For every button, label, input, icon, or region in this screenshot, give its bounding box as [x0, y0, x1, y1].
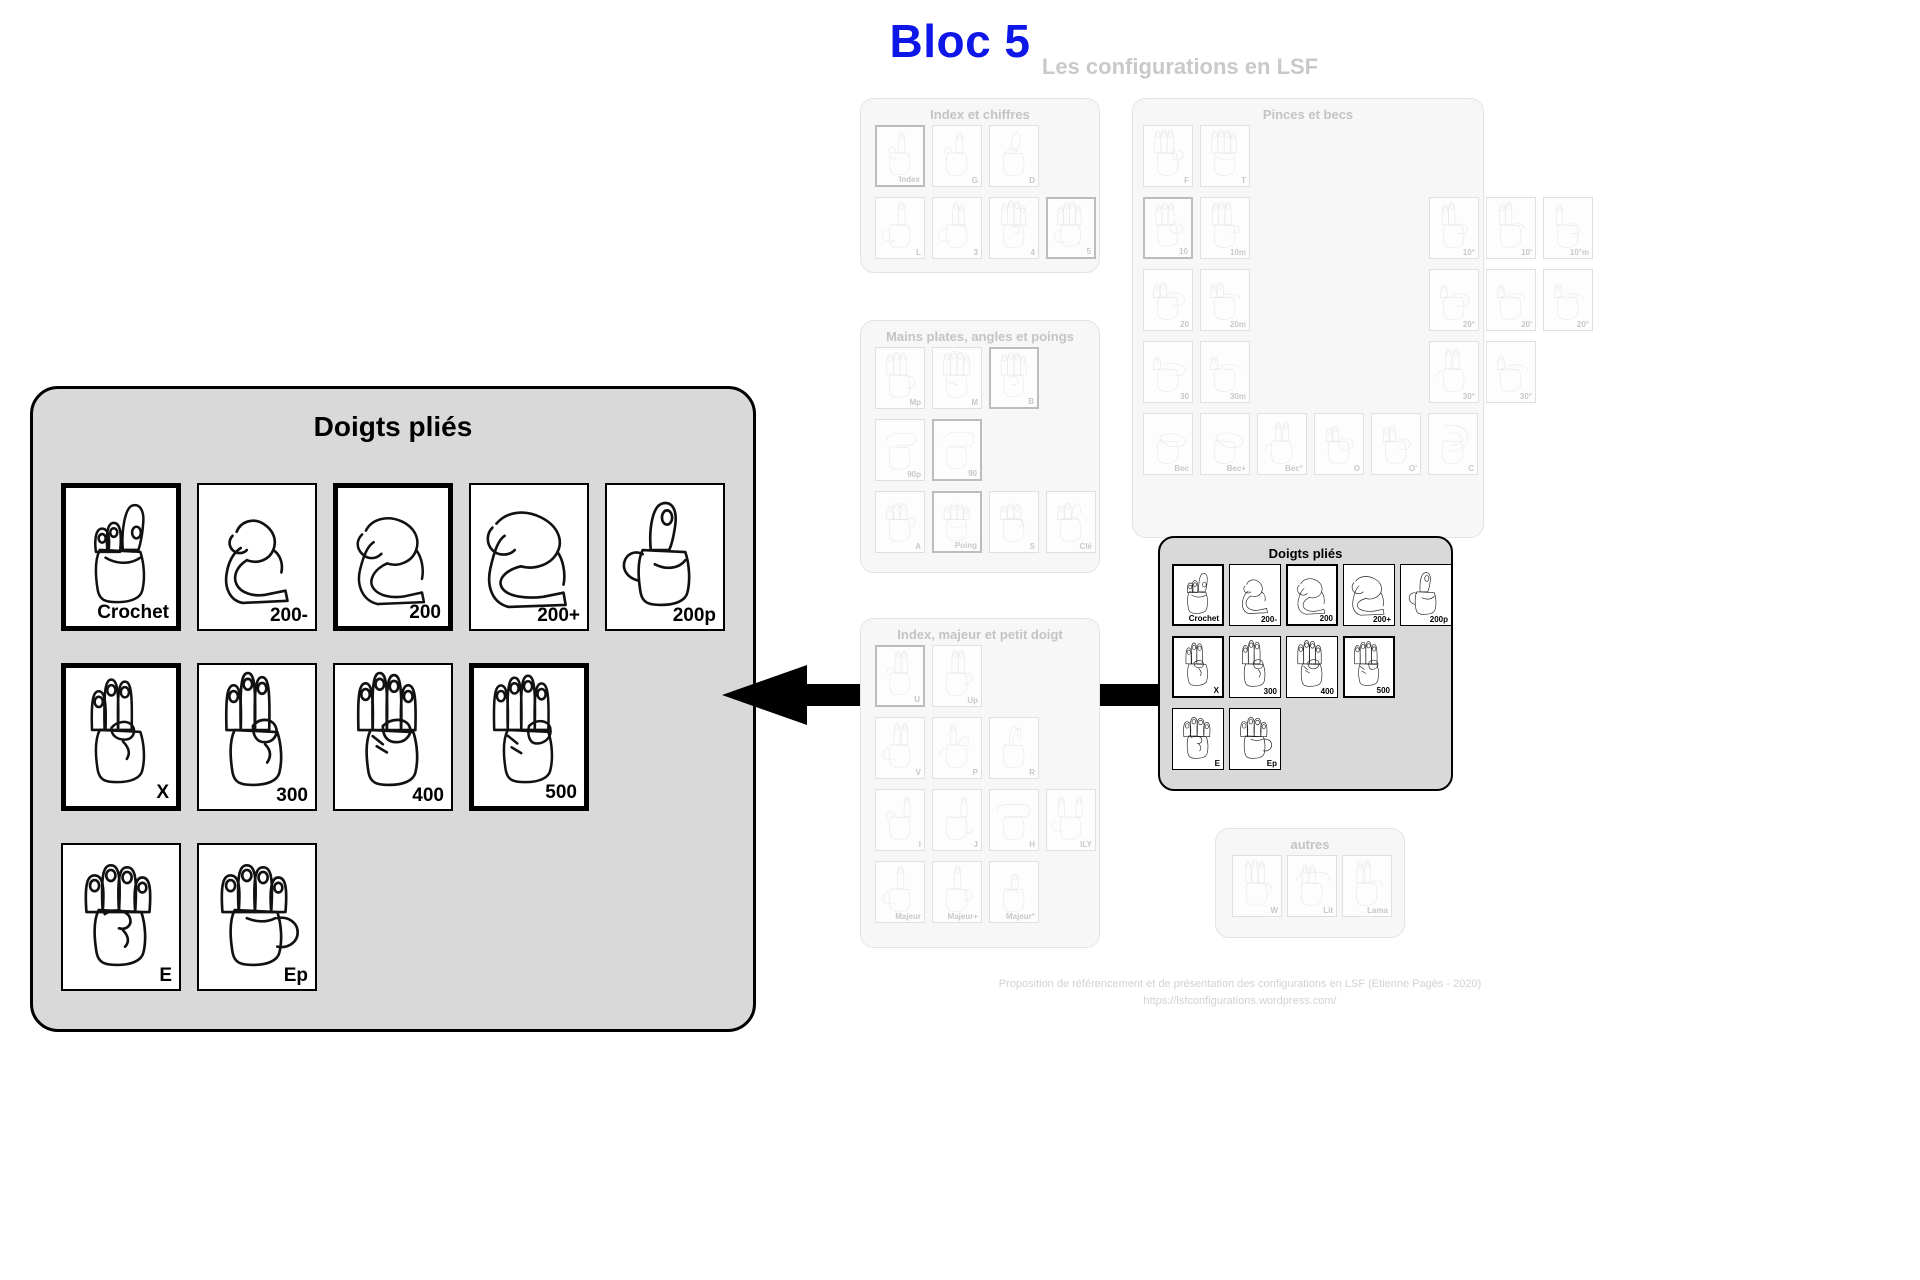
overview-card-label: 400 [1321, 688, 1334, 696]
hand-mp-icon [878, 349, 922, 399]
overview-card-20[interactable]: 20 [1143, 269, 1193, 331]
overview-card-label: V [916, 769, 921, 777]
hand-bec-icon [1146, 415, 1190, 465]
overview-card-label: Up [967, 697, 978, 705]
hand-pince-200plat-icon [611, 487, 719, 609]
overview-card-label: 20m [1230, 321, 1246, 329]
hand-pince-200-icon [342, 490, 444, 606]
card-label: 400 [412, 786, 444, 805]
overview-card-300[interactable]: 300 [1229, 636, 1281, 698]
hand-five-bent-icon [478, 670, 580, 786]
hand-lit-icon [1290, 857, 1334, 907]
hand-d10m-icon [1203, 199, 1247, 249]
hand-90-icon [936, 422, 978, 470]
overview-card-3[interactable]: 3 [932, 197, 982, 259]
hand-five-bent-icon [1347, 639, 1391, 687]
hand-three-bent-icon [1232, 638, 1278, 688]
overview-card-h[interactable]: H [989, 789, 1039, 851]
overview-card-label: 200- [1261, 616, 1277, 624]
overview-card-label: Index [899, 176, 920, 184]
overview-card-label: Poing [955, 542, 977, 550]
hand-d20a-icon [1489, 271, 1533, 321]
card-label: 500 [545, 783, 577, 802]
overview-card-label: J [974, 841, 978, 849]
hand-s-icon [992, 493, 1036, 543]
card-label: 200- [270, 606, 308, 625]
overview-card-label: 90 [968, 470, 977, 478]
overview-card-d[interactable]: D [989, 125, 1039, 187]
hand-crochet-icon [70, 490, 172, 606]
hand-m-icon [935, 349, 979, 399]
hand-e-hand-icon [67, 847, 175, 969]
overview-card-label: D [1029, 177, 1035, 185]
hand-d20d2-icon [1546, 271, 1590, 321]
hand-x-hand-icon [1176, 639, 1220, 687]
overview-card-label: H [1029, 841, 1035, 849]
overview-card-label: Bec° [1285, 465, 1303, 473]
overview-card-ep[interactable]: Ep [1229, 708, 1281, 770]
footer-line-2[interactable]: https://lsfconfigurations.wordpress.com/ [860, 993, 1620, 1010]
hand-d30m-icon [1203, 343, 1247, 393]
overview-card-t[interactable]: T [1200, 125, 1250, 187]
overview-card-200-[interactable]: 200- [1229, 564, 1281, 626]
overview-card-l[interactable]: L [875, 197, 925, 259]
hand-up-icon [935, 647, 979, 697]
card-label: E [159, 966, 172, 985]
overview-card-o[interactable]: O [1314, 413, 1364, 475]
hand-ep-hand-icon [1232, 710, 1278, 760]
overview-card-j[interactable]: J [932, 789, 982, 851]
overview-card-label: O' [1409, 465, 1417, 473]
overview-card-label: Majeur+ [948, 913, 978, 921]
config-card-200-[interactable]: 200- [197, 483, 317, 631]
hand-three-icon [935, 199, 979, 249]
overview-group-index-et-chiffres[interactable]: Index et chiffresIndexGDL345 [860, 98, 1100, 273]
overview-card-4[interactable]: 4 [989, 197, 1039, 259]
hand-t-icon [1203, 127, 1247, 177]
hand-g-icon [935, 127, 979, 177]
overview-card-x[interactable]: X [1172, 636, 1224, 698]
overview-card-label: P [973, 769, 978, 777]
overview-card-label: 200+ [1373, 616, 1391, 624]
overview-card-label: Crochet [1189, 615, 1219, 623]
overview-card-label: Bec [1174, 465, 1189, 473]
overview-card-label: W [1270, 907, 1278, 915]
overview-card-label: 20° [1463, 321, 1475, 329]
hand-w-icon [1235, 857, 1279, 907]
overview-card-label: ILY [1080, 841, 1092, 849]
config-card-200-[interactable]: 200+ [469, 483, 589, 631]
overview-card-label: 3 [974, 249, 978, 257]
hand-pince-200plat-icon [1403, 566, 1449, 616]
overview-card-label: T [1241, 177, 1246, 185]
hand-h-icon [992, 791, 1036, 841]
overview-card-10[interactable]: 10 [1143, 197, 1193, 259]
hand-d10dm-icon [1546, 199, 1590, 249]
overview-card-crochet[interactable]: Crochet [1172, 564, 1224, 626]
overview-card-f[interactable]: F [1143, 125, 1193, 187]
hand-d30d-icon [1432, 343, 1476, 393]
hand-becd-icon [1260, 415, 1304, 465]
hand-pince-200p-icon [475, 487, 583, 609]
overview-card-lama[interactable]: Lama [1342, 855, 1392, 917]
overview-card-index[interactable]: Index [875, 125, 925, 187]
hand-d10-icon [1147, 200, 1189, 248]
hand-majeurd-icon [992, 863, 1036, 913]
hand-pince-200m-icon [203, 487, 311, 609]
hand-e-hand-icon [1175, 710, 1221, 760]
hand-d10a-icon [1489, 199, 1533, 249]
hand-c-icon [1431, 415, 1475, 465]
overview-card-label: 4 [1031, 249, 1035, 257]
overview-card-up[interactable]: Up [932, 645, 982, 707]
overview-card-label: 90p [907, 471, 921, 479]
overview-card-label: 30° [1520, 393, 1532, 401]
config-card-200[interactable]: 200 [333, 483, 453, 631]
hand-d20-icon [1146, 271, 1190, 321]
hand-d20d-icon [1432, 271, 1476, 321]
overview-card-label: Ep [1267, 760, 1277, 768]
overview-card-label: 5 [1087, 248, 1091, 256]
overview-card-200[interactable]: 200 [1286, 564, 1338, 626]
hand-i-icon [878, 791, 922, 841]
panel-title: Doigts pliés [33, 411, 753, 443]
hand-f-icon [1146, 127, 1190, 177]
overview-card-label: A [915, 543, 921, 551]
overview-group-mains-plates-angles-et-poings[interactable]: Mains plates, angles et poingsMpMB90p90A… [860, 320, 1100, 573]
hand-d20m-icon [1203, 271, 1247, 321]
overview-card-bec-[interactable]: Bec+ [1200, 413, 1250, 475]
overview-card-c[interactable]: C [1428, 413, 1478, 475]
hand-oa-icon [1374, 415, 1418, 465]
card-label: 200 [409, 603, 441, 622]
overview-card-200p[interactable]: 200p [1400, 564, 1452, 626]
hand-four-icon [992, 199, 1036, 249]
hand-l-icon [878, 199, 922, 249]
overview-card-s[interactable]: S [989, 491, 1039, 553]
overview-card-label: G [972, 177, 978, 185]
overview-card-30-[interactable]: 30° [1429, 341, 1479, 403]
overview-card-label: 10° [1463, 249, 1475, 257]
overview-card-label: E [1215, 760, 1220, 768]
overview-card-label: Bec+ [1227, 465, 1246, 473]
overview-card-label: 10°m [1570, 249, 1589, 257]
overview-card-label: Majeur [895, 913, 921, 921]
footer-credits: Proposition de référencement et de prése… [860, 976, 1620, 1009]
overview-card-majeur[interactable]: Majeur [875, 861, 925, 923]
hand-d30-icon [1146, 343, 1190, 393]
hand-o-icon [1317, 415, 1361, 465]
overview-card-20-[interactable]: 20' [1486, 269, 1536, 331]
overview-card-r[interactable]: R [989, 717, 1039, 779]
hand-d-icon [992, 127, 1036, 177]
overview-group-index-majeur-et-petit-doigt[interactable]: Index, majeur et petit doigtUUpVPRIJHILY… [860, 618, 1100, 948]
hand-b-icon [993, 350, 1035, 398]
overview-card-b[interactable]: B [989, 347, 1039, 409]
overview-card-w[interactable]: W [1232, 855, 1282, 917]
overview-card-label: B [1028, 398, 1034, 406]
overview-card-label: F [1184, 177, 1189, 185]
overview-card-bec[interactable]: Bec [1143, 413, 1193, 475]
overview-card-label: Clé [1080, 543, 1092, 551]
overview-card-10m[interactable]: 10m [1200, 197, 1250, 259]
overview-card-400[interactable]: 400 [1286, 636, 1338, 698]
config-card-x[interactable]: X [61, 663, 181, 811]
overview-card-o-[interactable]: O' [1371, 413, 1421, 475]
overview-title: Les configurations en LSF [860, 54, 1500, 80]
hand-v-icon [878, 719, 922, 769]
overview-card-p[interactable]: P [932, 717, 982, 779]
overview-card-label: 10 [1179, 248, 1188, 256]
overview-card-cl-[interactable]: Clé [1046, 491, 1096, 553]
overview-card-label: 500 [1377, 687, 1390, 695]
overview-group-title: Pinces et becs [1133, 107, 1483, 122]
overview-card-label: C [1468, 465, 1474, 473]
overview-group-title: Index, majeur et petit doigt [861, 627, 1099, 642]
hand-90p-icon [878, 421, 922, 471]
hand-four-bent-icon [339, 667, 447, 789]
hand-d30d2-icon [1489, 343, 1533, 393]
config-card-200p[interactable]: 200p [605, 483, 725, 631]
hand-a-icon [878, 493, 922, 543]
hand-crochet-icon [1176, 567, 1220, 615]
overview-card-a[interactable]: A [875, 491, 925, 553]
card-label: 200+ [537, 606, 580, 625]
overview-group-title: Mains plates, angles et poings [861, 329, 1099, 344]
overview-card-u[interactable]: U [875, 645, 925, 707]
card-label: Crochet [97, 603, 169, 622]
overview-card-10-m[interactable]: 10°m [1543, 197, 1593, 259]
doigts-plies-panel: Doigts pliés Crochet200-200200+200pX3004… [30, 386, 756, 1032]
hand-ily-icon [1049, 791, 1093, 841]
overview-card-v[interactable]: V [875, 717, 925, 779]
overview-card-majeur-[interactable]: Majeur° [989, 861, 1039, 923]
overview-group-title: Doigts pliés [1160, 546, 1451, 561]
config-card-e[interactable]: E [61, 843, 181, 991]
hand-cle-icon [1049, 493, 1093, 543]
overview-card-20m[interactable]: 20m [1200, 269, 1250, 331]
configurations-overview-map: Les configurations en LSF Index et chiff… [860, 48, 1900, 1058]
hand-lama-icon [1345, 857, 1389, 907]
hand-index-icon [879, 128, 921, 176]
hand-r-icon [992, 719, 1036, 769]
config-card-ep[interactable]: Ep [197, 843, 317, 991]
overview-card-e[interactable]: E [1172, 708, 1224, 770]
hand-poing-icon [936, 494, 978, 542]
hand-u-icon [879, 648, 921, 696]
overview-card-30[interactable]: 30 [1143, 341, 1193, 403]
overview-card-label: 20' [1521, 321, 1532, 329]
overview-card-90[interactable]: 90 [932, 419, 982, 481]
overview-card-5[interactable]: 5 [1046, 197, 1096, 259]
overview-card-label: 300 [1264, 688, 1277, 696]
overview-card-label: 200p [1430, 616, 1448, 624]
overview-card-label: I [919, 841, 921, 849]
overview-card-30m[interactable]: 30m [1200, 341, 1250, 403]
config-card-crochet[interactable]: Crochet [61, 483, 181, 631]
overview-card-label: 30m [1230, 393, 1246, 401]
overview-card-30-[interactable]: 30° [1486, 341, 1536, 403]
overview-card-mp[interactable]: Mp [875, 347, 925, 409]
overview-card-20-[interactable]: 20° [1543, 269, 1593, 331]
card-label: 300 [276, 786, 308, 805]
config-card-500[interactable]: 500 [469, 663, 589, 811]
overview-card-10-[interactable]: 10° [1429, 197, 1479, 259]
overview-card-i[interactable]: I [875, 789, 925, 851]
overview-card-label: 200 [1320, 615, 1333, 623]
overview-card-label: M [971, 399, 978, 407]
footer-line-1: Proposition de référencement et de prése… [860, 976, 1620, 993]
hand-majeur-icon [878, 863, 922, 913]
overview-card-g[interactable]: G [932, 125, 982, 187]
card-label: Ep [284, 966, 308, 985]
card-label: X [156, 783, 169, 802]
overview-card-10-[interactable]: 10' [1486, 197, 1536, 259]
overview-card-label: 30 [1180, 393, 1189, 401]
overview-card-20-[interactable]: 20° [1429, 269, 1479, 331]
hand-pince-200p-icon [1346, 566, 1392, 616]
overview-card-m[interactable]: M [932, 347, 982, 409]
overview-card-label: X [1214, 687, 1219, 695]
overview-card-label: 10' [1521, 249, 1532, 257]
hand-majeurp-icon [935, 863, 979, 913]
overview-card-label: 20 [1180, 321, 1189, 329]
overview-group-pinces-et-becs[interactable]: Pinces et becsFT1010m10°10'10°m2020m20°2… [1132, 98, 1484, 538]
hand-x-hand-icon [70, 670, 172, 786]
hand-d10d-icon [1432, 199, 1476, 249]
overview-card-label: Mp [909, 399, 921, 407]
overview-card-label: 10m [1230, 249, 1246, 257]
hand-p-icon [935, 719, 979, 769]
overview-card-label: R [1029, 769, 1035, 777]
overview-card-label: Lit [1323, 907, 1333, 915]
config-card-400[interactable]: 400 [333, 663, 453, 811]
overview-card-label: 30° [1463, 393, 1475, 401]
hand-ep-hand-icon [203, 847, 311, 969]
overview-card-majeur-[interactable]: Majeur+ [932, 861, 982, 923]
overview-card-label: Majeur° [1006, 913, 1035, 921]
hand-three-bent-icon [203, 667, 311, 789]
hand-becp-icon [1203, 415, 1247, 465]
overview-card-label: L [916, 249, 921, 257]
overview-card-label: O [1354, 465, 1360, 473]
overview-card-200-[interactable]: 200+ [1343, 564, 1395, 626]
overview-card-90p[interactable]: 90p [875, 419, 925, 481]
overview-card-poing[interactable]: Poing [932, 491, 982, 553]
hand-pince-200m-icon [1232, 566, 1278, 616]
hand-five-icon [1050, 200, 1092, 248]
hand-j-icon [935, 791, 979, 841]
overview-card-bec-[interactable]: Bec° [1257, 413, 1307, 475]
overview-card-label: S [1030, 543, 1035, 551]
overview-card-label: 20° [1577, 321, 1589, 329]
overview-card-ily[interactable]: ILY [1046, 789, 1096, 851]
overview-group-title: Index et chiffres [861, 107, 1099, 122]
overview-card-500[interactable]: 500 [1343, 636, 1395, 698]
overview-card-lit[interactable]: Lit [1287, 855, 1337, 917]
hand-pince-200-icon [1290, 567, 1334, 615]
overview-group-doigts-plies[interactable]: Doigts pliésCrochet200-200200+200pX30040… [1158, 536, 1453, 791]
hand-four-bent-icon [1289, 638, 1335, 688]
overview-card-label: Lama [1367, 907, 1388, 915]
overview-group-autres[interactable]: autresWLitLama [1215, 828, 1405, 938]
config-card-300[interactable]: 300 [197, 663, 317, 811]
card-label: 200p [673, 606, 716, 625]
overview-group-title: autres [1216, 837, 1404, 852]
overview-card-label: U [914, 696, 920, 704]
